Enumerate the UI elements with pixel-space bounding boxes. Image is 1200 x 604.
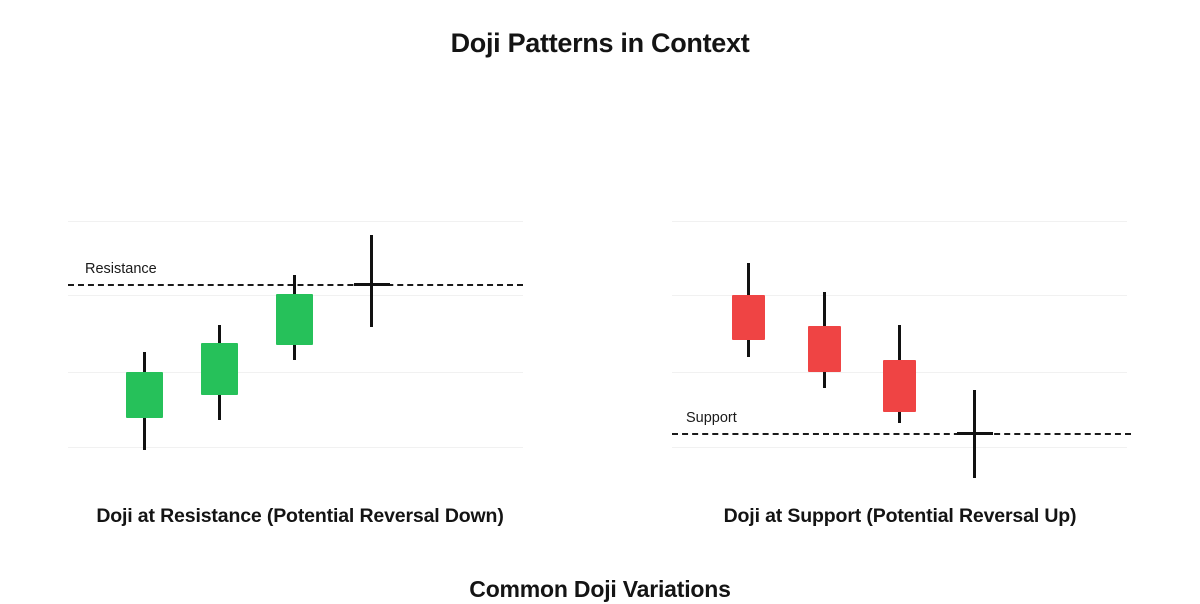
candlestick-bullish-1 [126, 210, 163, 460]
candlestick-doji-resistance [353, 210, 390, 460]
panel-caption-resistance: Doji at Resistance (Potential Reversal D… [0, 503, 600, 529]
candle-body [276, 294, 313, 345]
candlestick-doji-support [958, 210, 991, 460]
candlestick-bearish-3 [883, 210, 916, 460]
candle-body [732, 295, 765, 340]
candle-body [883, 360, 916, 412]
candle-body [126, 372, 163, 418]
candle-body [808, 326, 841, 372]
plot-area-support: Support [672, 210, 1127, 460]
plot-area-resistance: Resistance [68, 210, 523, 460]
candlestick-bearish-1 [732, 210, 765, 460]
candlestick-bullish-2 [201, 210, 238, 460]
candle-body [201, 343, 238, 395]
candlestick-bullish-3 [276, 210, 313, 460]
chart-panel-support: Support Doji at Support (Potential Rever… [600, 0, 1200, 600]
candlestick-bearish-2 [808, 210, 841, 460]
chart-panel-resistance: Resistance Doji at Resistance (Potential… [0, 0, 600, 600]
doji-body [354, 283, 390, 286]
doji-body [957, 432, 993, 435]
panel-caption-support: Doji at Support (Potential Reversal Up) [600, 503, 1200, 529]
doji-wick [370, 235, 373, 327]
support-level-label: Support [686, 410, 737, 426]
